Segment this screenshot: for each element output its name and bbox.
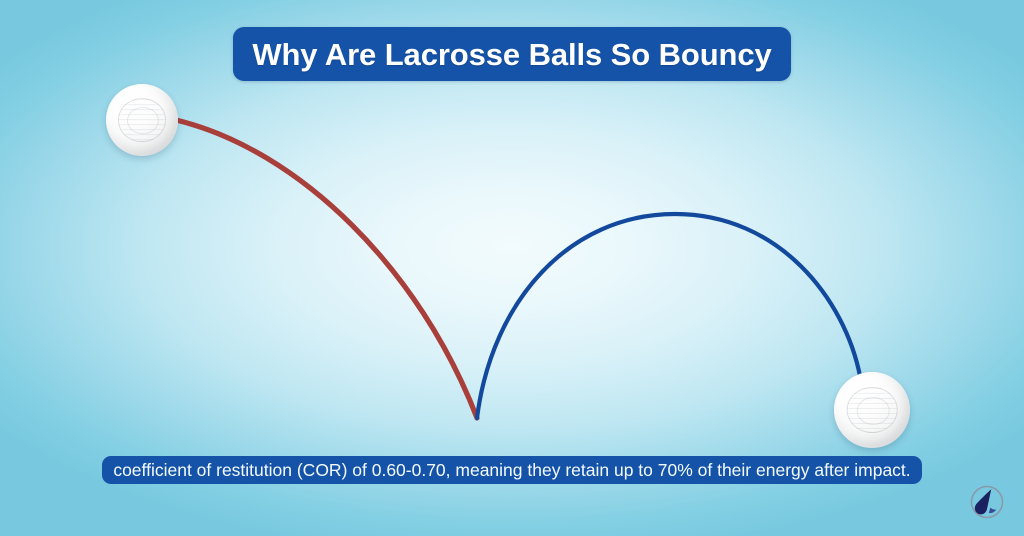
lacrosse-ball-end [834, 372, 910, 448]
caption-banner: coefficient of restitution (COR) of 0.60… [0, 455, 1024, 485]
infographic-canvas: Why Are Lacrosse Balls So Bouncy coeffic… [0, 0, 1024, 536]
water-droplet-logo-icon [967, 482, 1007, 522]
ball-embossed-seal-icon [118, 98, 166, 142]
caption-text: coefficient of restitution (COR) of 0.60… [102, 456, 921, 484]
ball-embossed-seal-icon [847, 387, 898, 433]
rebound-arc-path [477, 214, 860, 418]
page-title: Why Are Lacrosse Balls So Bouncy [252, 39, 771, 70]
title-banner: Why Are Lacrosse Balls So Bouncy [233, 27, 791, 81]
incoming-arc-path [176, 120, 477, 418]
lacrosse-ball-start [106, 84, 178, 156]
